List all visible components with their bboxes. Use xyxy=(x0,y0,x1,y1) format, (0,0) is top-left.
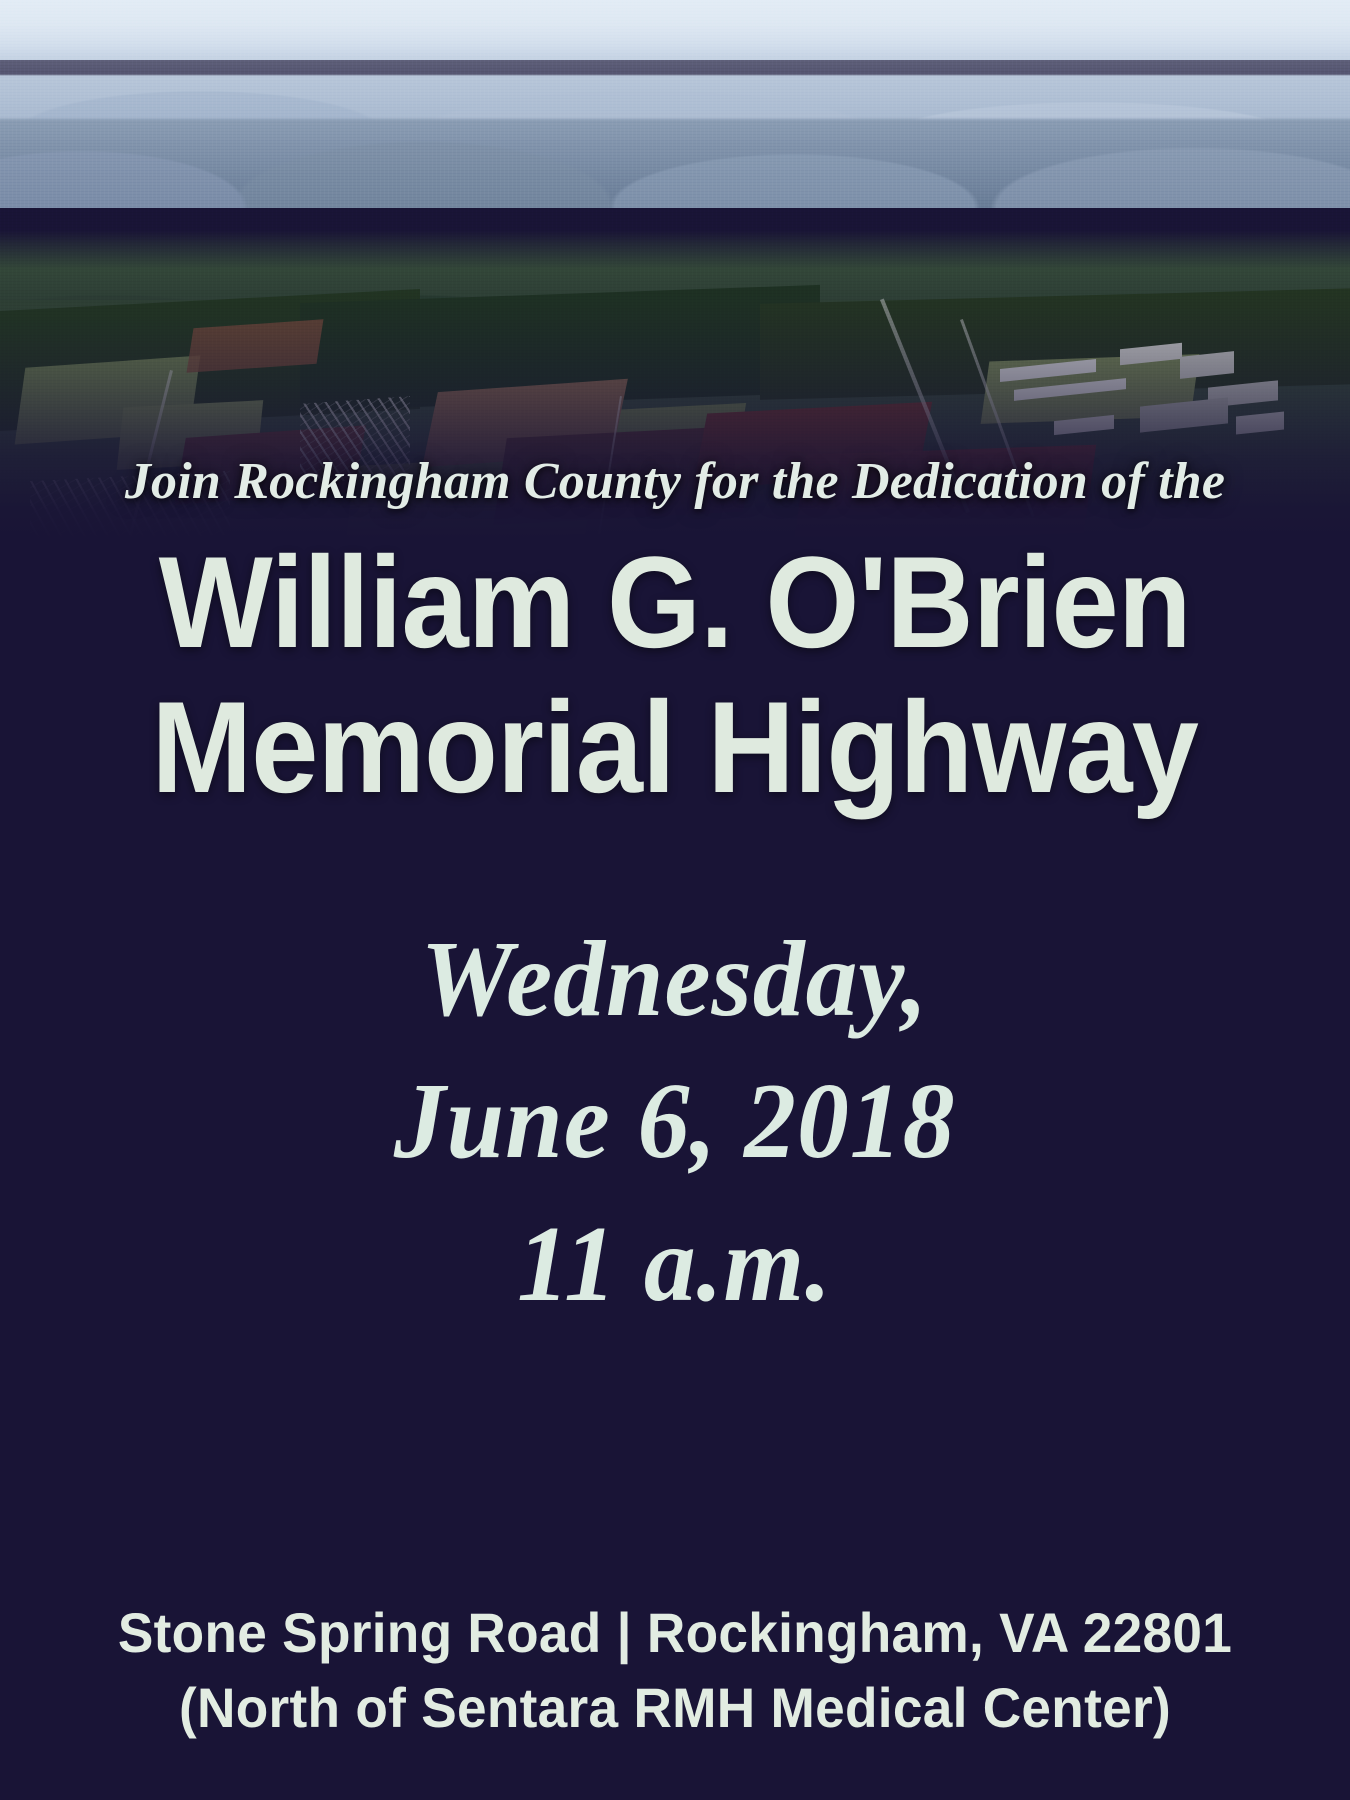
headline-line-2: Memorial Highway xyxy=(152,675,1199,821)
tagline: Join Rockingham County for the Dedicatio… xyxy=(125,455,1225,510)
flyer-content: Join Rockingham County for the Dedicatio… xyxy=(0,0,1350,1800)
event-day: Wednesday, xyxy=(394,909,956,1052)
headline: William G. O'Brien Memorial Highway xyxy=(152,530,1199,821)
event-time: 11 a.m. xyxy=(394,1194,956,1337)
address-line-2: (North of Sentara RMH Medical Center) xyxy=(34,1671,1317,1745)
headline-line-1: William G. O'Brien xyxy=(152,530,1199,676)
event-date: June 6, 2018 xyxy=(394,1051,956,1194)
event-address: Stone Spring Road | Rockingham, VA 22801… xyxy=(34,1596,1317,1745)
event-flyer: Join Rockingham County for the Dedicatio… xyxy=(0,0,1350,1800)
event-datetime: Wednesday, June 6, 2018 11 a.m. xyxy=(394,909,956,1337)
address-line-1: Stone Spring Road | Rockingham, VA 22801 xyxy=(34,1596,1317,1670)
